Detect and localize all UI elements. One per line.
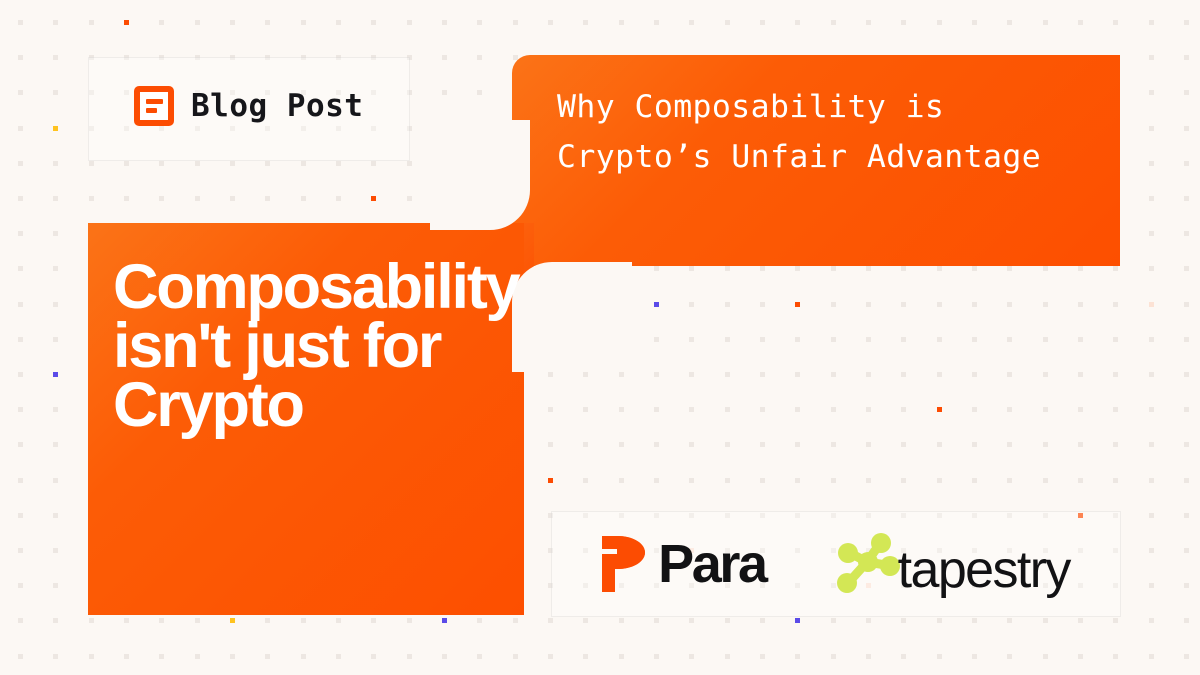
social-card: Blog Post Why Composability is Crypto’s … <box>0 0 1200 675</box>
badge-label: Blog Post <box>191 88 363 124</box>
headline-text: Why Composability is Crypto’s Unfair Adv… <box>557 82 1117 182</box>
tapestry-wordmark: tapestry <box>898 544 1070 596</box>
blog-post-icon <box>134 86 174 126</box>
panel-notch-upper <box>430 120 530 230</box>
page-title: Composability isn't just for Crypto <box>113 258 513 435</box>
partner-logos: Para tapestry <box>551 511 1121 617</box>
tapestry-network-logo-icon <box>834 532 902 594</box>
logo-tapestry: tapestry <box>834 532 1070 596</box>
para-p-logo-icon <box>602 536 645 592</box>
logo-para: Para <box>602 536 766 592</box>
panel-notch-lower <box>512 262 632 372</box>
blog-post-badge: Blog Post <box>134 86 363 126</box>
para-wordmark: Para <box>658 537 766 591</box>
